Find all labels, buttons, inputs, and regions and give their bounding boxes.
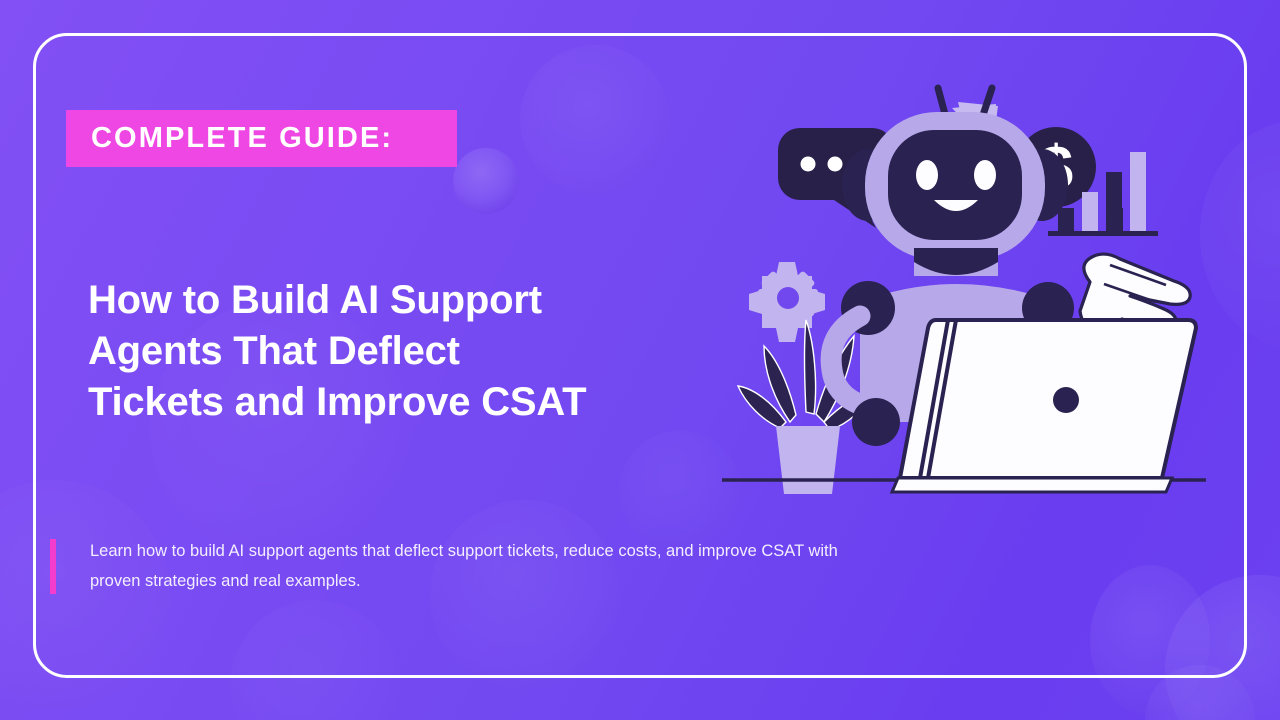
robot-eye (916, 160, 938, 190)
hero-illustration: $ (700, 70, 1240, 500)
chat-dot (828, 157, 843, 172)
background-bubble (1145, 665, 1255, 720)
banner-content: COMPLETE GUIDE: How to Build AI Support … (0, 0, 700, 720)
background-bubble (1165, 575, 1280, 720)
laptop-icon (892, 320, 1196, 492)
headline-line-3: Tickets and Improve CSAT (88, 377, 688, 428)
gear-icon (749, 262, 825, 342)
headline-line-1: How to Build AI Support (88, 275, 688, 326)
guide-badge: COMPLETE GUIDE: (66, 110, 457, 167)
robot-eye (974, 160, 996, 190)
subtitle-text: Learn how to build AI support agents tha… (90, 536, 850, 596)
subtitle-block: Learn how to build AI support agents tha… (50, 536, 870, 596)
laptop-logo (1053, 387, 1079, 413)
background-bubble (1090, 565, 1210, 715)
page-title: How to Build AI Support Agents That Defl… (88, 275, 688, 428)
hero-banner: $ (0, 0, 1280, 720)
headline-line-2: Agents That Deflect (88, 326, 688, 377)
chat-dot (801, 157, 816, 172)
accent-bar (50, 539, 56, 594)
guide-badge-label: COMPLETE GUIDE: (66, 122, 393, 155)
